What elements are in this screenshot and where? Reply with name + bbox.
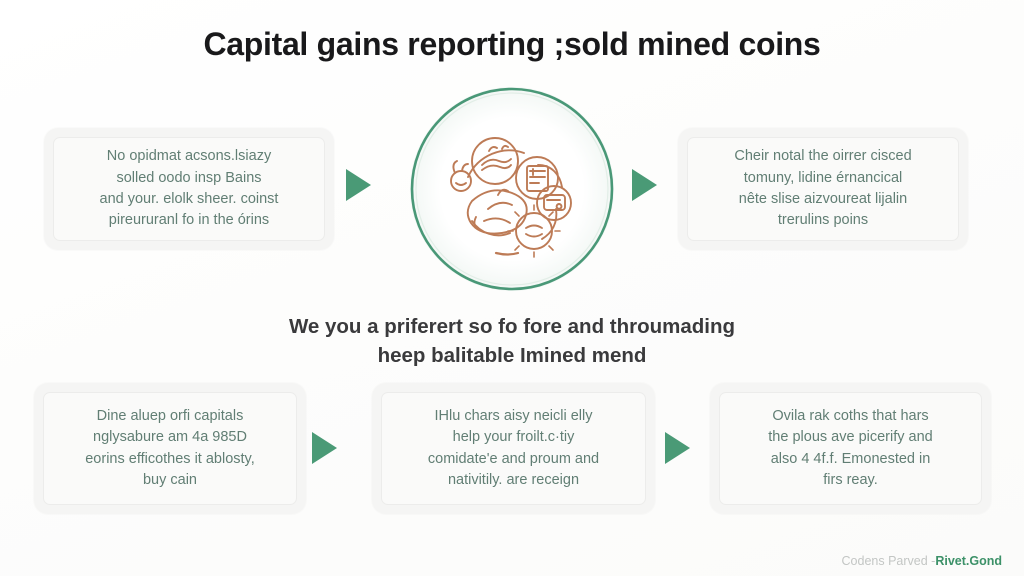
bottom-center-panel-text: IHlu chars aisy neicli elly help your fr… <box>418 402 609 496</box>
top-left-panel-inner: No opidmat acsons.lsiazy solled oodo ins… <box>53 137 325 241</box>
watermark-brand: Rivet.Gond <box>935 554 1002 568</box>
page-title: Capital gains reporting ;sold mined coin… <box>0 26 1024 63</box>
bottom-left-panel-inner: Dine aluep orfi capitals nglysabure am 4… <box>43 392 297 505</box>
section-heading: We you a priferert so fo fore and throum… <box>162 312 862 370</box>
center-graphic-svg <box>406 83 618 295</box>
watermark: Codens Parved -Rivet.Gond <box>842 554 1002 568</box>
top-right-panel-inner: Cheir notal the oirrer cisced tomuny, li… <box>687 137 959 241</box>
play-triangle-icon-top-left <box>346 169 371 201</box>
bottom-left-panel: Dine aluep orfi capitals nglysabure am 4… <box>34 383 306 514</box>
top-right-panel: Cheir notal the oirrer cisced tomuny, li… <box>678 128 968 250</box>
top-right-panel-text: Cheir notal the oirrer cisced tomuny, li… <box>724 142 921 236</box>
top-left-panel-text: No opidmat acsons.lsiazy solled oodo ins… <box>90 142 289 236</box>
infographic-canvas: Capital gains reporting ;sold mined coin… <box>0 0 1024 576</box>
bottom-right-panel-text: Ovila rak coths that hars the plous ave … <box>758 402 942 496</box>
watermark-prefix: Codens Parved - <box>842 554 936 568</box>
bottom-center-panel: IHlu chars aisy neicli elly help your fr… <box>372 383 655 514</box>
bottom-right-panel-inner: Ovila rak coths that hars the plous ave … <box>719 392 982 505</box>
bottom-left-panel-text: Dine aluep orfi capitals nglysabure am 4… <box>75 402 265 496</box>
play-triangle-icon-top-right <box>632 169 657 201</box>
top-left-panel: No opidmat acsons.lsiazy solled oodo ins… <box>44 128 334 250</box>
bottom-center-panel-inner: IHlu chars aisy neicli elly help your fr… <box>381 392 646 505</box>
bottom-right-panel: Ovila rak coths that hars the plous ave … <box>710 383 991 514</box>
play-triangle-icon-bottom-right <box>665 432 690 464</box>
play-triangle-icon-bottom-left <box>312 432 337 464</box>
coin-cluster-circle-illustration <box>406 83 618 295</box>
